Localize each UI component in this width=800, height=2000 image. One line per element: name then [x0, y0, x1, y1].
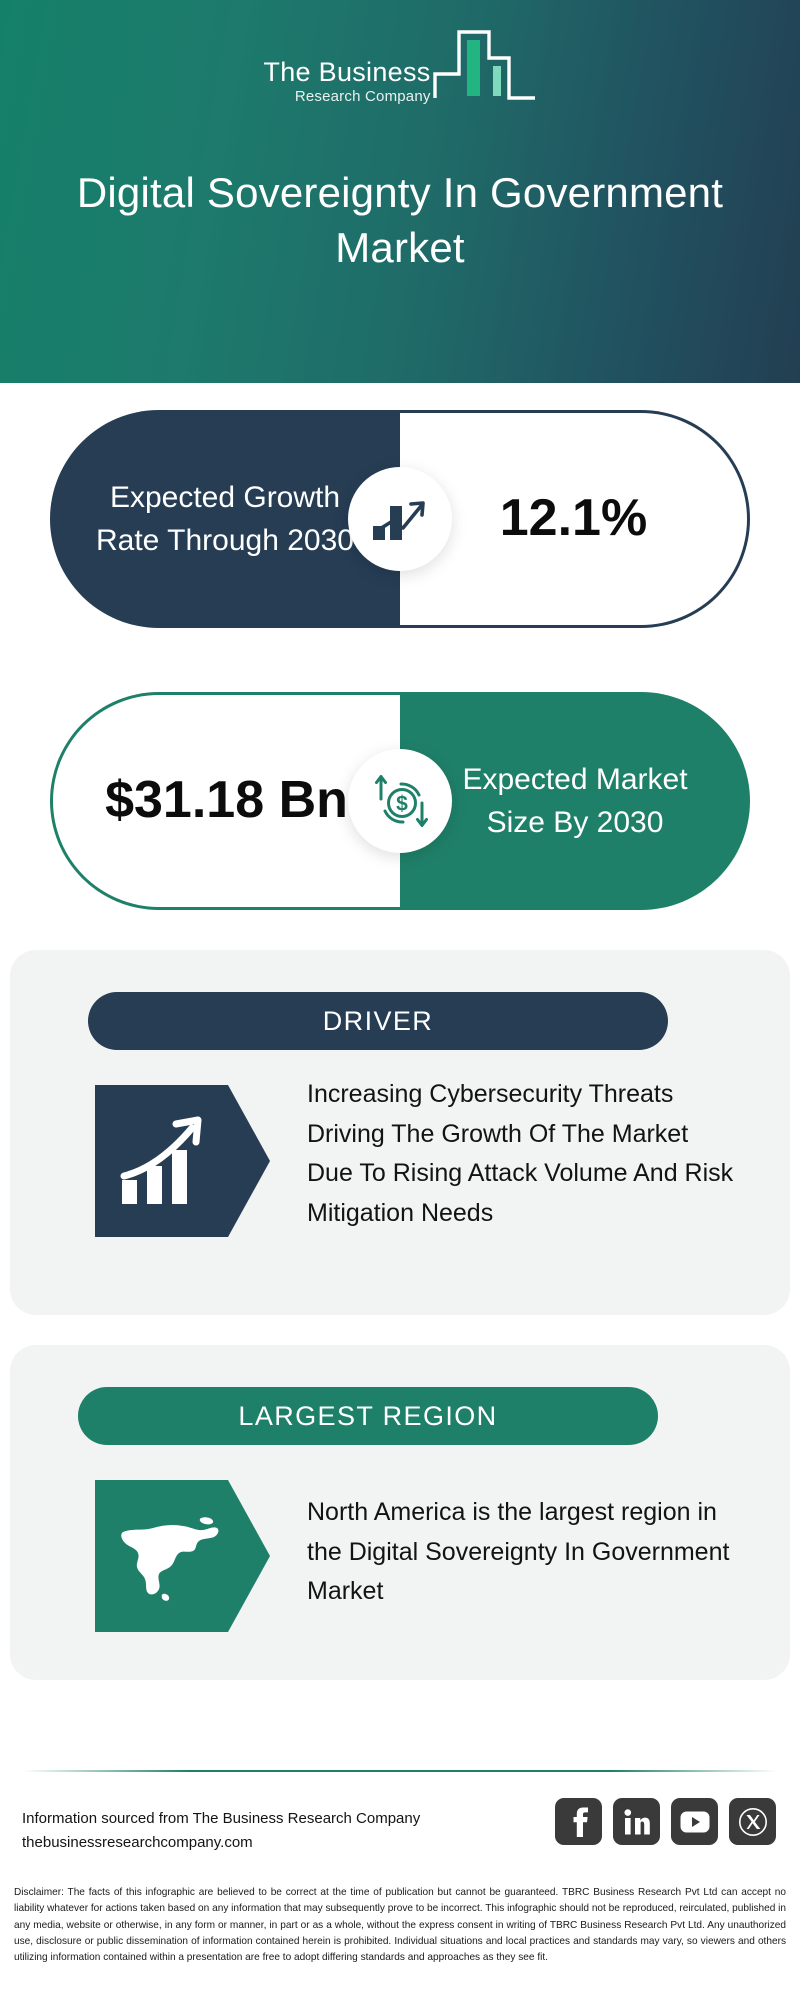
source-line-2[interactable]: thebusinessresearchcompany.com [22, 1831, 420, 1855]
infographic-page: The Business Research Company Digital So… [0, 0, 800, 2000]
company-logo: The Business Research Company [0, 24, 800, 109]
region-description: North America is the largest region in t… [307, 1493, 738, 1612]
page-title: Digital Sovereignty In Government Market [60, 165, 740, 276]
growth-rate-value: 12.1% [500, 487, 647, 550]
rising-bar-chart-icon [95, 1085, 270, 1237]
growth-value-block: 12.1% [400, 410, 750, 628]
disclaimer-text: Disclaimer: The facts of this infographi… [14, 1885, 786, 1967]
facebook-icon[interactable] [555, 1798, 602, 1845]
dollar-circular-arrows-icon: $ [348, 749, 452, 853]
svg-text:$: $ [396, 793, 408, 816]
market-size-label-block: Expected Market Size By 2030 [400, 692, 750, 910]
logo-line-2: Research Company [263, 89, 430, 104]
market-size-value: $31.18 Bn [105, 769, 348, 832]
social-links [555, 1798, 776, 1845]
logo-wordmark: The Business Research Company [263, 59, 430, 109]
linkedin-icon[interactable] [613, 1798, 660, 1845]
growth-rate-label: Expected Growth Rate Through 2030 [84, 476, 366, 563]
growth-bar-arrow-icon [348, 467, 452, 571]
stat-card-market-size: $31.18 Bn Expected Market Size By 2030 $ [50, 692, 750, 910]
header-banner: The Business Research Company Digital So… [0, 0, 800, 383]
source-line-1: Information sourced from The Business Re… [22, 1807, 420, 1831]
logo-line-1: The Business [263, 59, 430, 86]
market-size-label: Expected Market Size By 2030 [434, 758, 716, 845]
footer-divider [22, 1770, 778, 1772]
driver-pill-label: DRIVER [88, 992, 668, 1050]
region-panel: LARGEST REGION North America is the larg… [10, 1345, 790, 1680]
driver-panel: DRIVER Increasing Cybersecurity Threats … [10, 950, 790, 1315]
region-pill-label: LARGEST REGION [78, 1387, 658, 1445]
source-attribution: Information sourced from The Business Re… [22, 1807, 420, 1856]
driver-description: Increasing Cybersecurity Threats Driving… [307, 1075, 738, 1233]
stat-card-growth-rate: Expected Growth Rate Through 2030 12.1% [50, 410, 750, 628]
x-twitter-icon[interactable] [729, 1798, 776, 1845]
youtube-icon[interactable] [671, 1798, 718, 1845]
bar-chart-logo-icon [433, 24, 537, 107]
north-america-map-icon [95, 1480, 270, 1632]
